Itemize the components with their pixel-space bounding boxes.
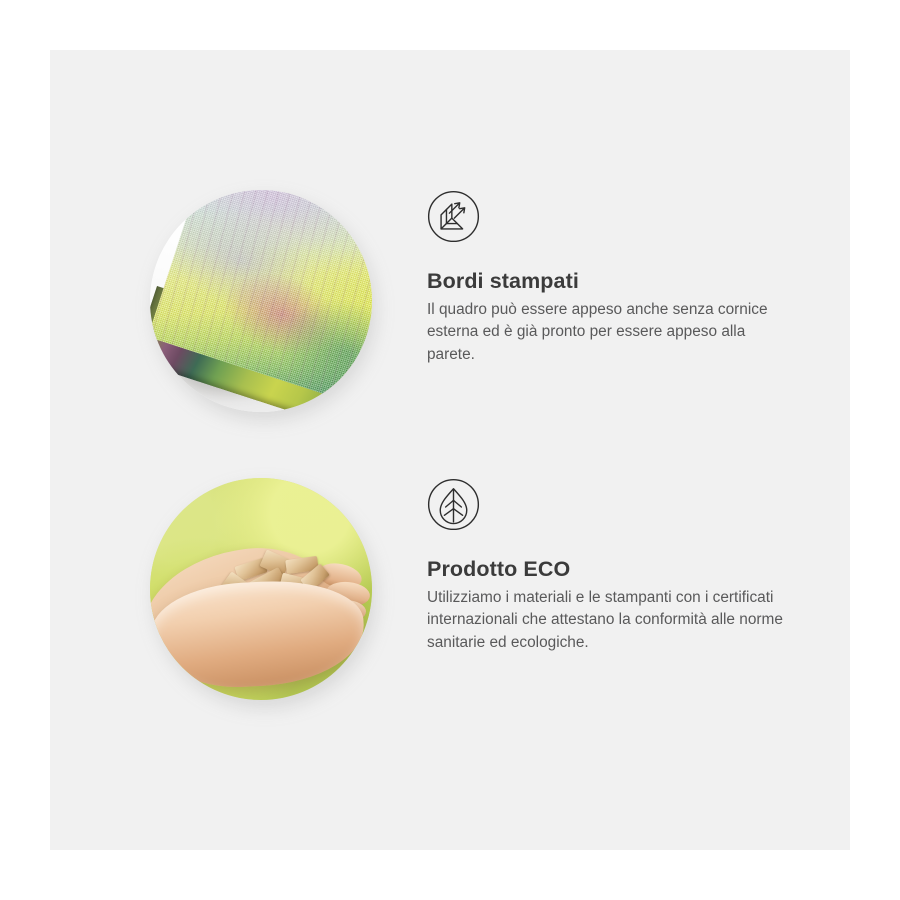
- feature-panel: Bordi stampati Il quadro può essere appe…: [50, 50, 850, 850]
- printed-edges-image: [150, 190, 372, 412]
- eco-product-image: [150, 478, 372, 700]
- leaf-icon: [427, 478, 480, 531]
- canvas-wrapped-edge-icon: [427, 190, 480, 243]
- circular-photo-frame: [150, 478, 372, 700]
- feature-eco-product: Prodotto ECO Utilizziamo i materiali e l…: [50, 478, 850, 768]
- feature-title: Bordi stampati: [427, 269, 807, 295]
- feature-description: Utilizziamo i materiali e le stampanti c…: [427, 587, 793, 654]
- hands-with-wood-chips-photo: [150, 478, 372, 700]
- printed-edges-text: Bordi stampati Il quadro può essere appe…: [427, 190, 807, 366]
- eco-product-text: Prodotto ECO Utilizziamo i materiali e l…: [427, 478, 807, 654]
- product-feature-page: Bordi stampati Il quadro può essere appe…: [0, 0, 900, 900]
- circular-photo-frame: [150, 190, 372, 412]
- canvas-corner-photo: [150, 190, 372, 412]
- feature-printed-edges: Bordi stampati Il quadro può essere appe…: [50, 190, 850, 480]
- feature-description: Il quadro può essere appeso anche senza …: [427, 299, 793, 366]
- feature-title: Prodotto ECO: [427, 557, 807, 583]
